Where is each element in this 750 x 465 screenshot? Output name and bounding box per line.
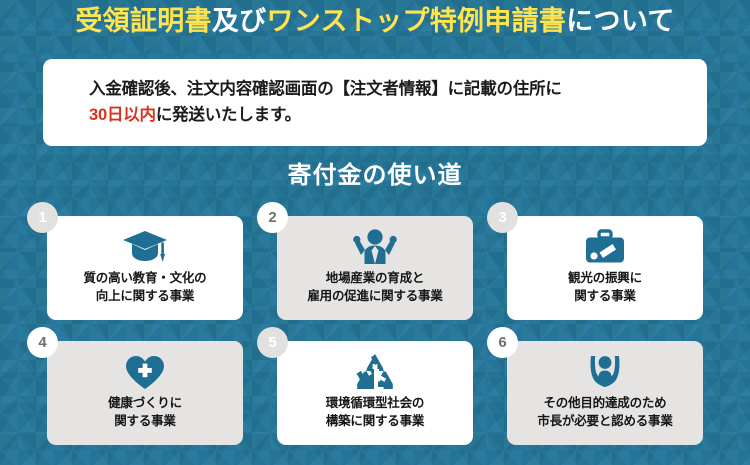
- person-in-hands-icon: [585, 352, 625, 392]
- section-heading-donation-usage: 寄付金の使い道: [0, 164, 750, 188]
- donation-usage-card-grid: 1 質の高い教育・文化の 向上に関する事業 2: [47, 216, 703, 445]
- usage-card-2-line-1: 地場産業の育成と: [307, 270, 442, 288]
- usage-card-5-number-badge: 5: [257, 327, 288, 358]
- usage-card-2-number-badge: 2: [257, 202, 288, 233]
- usage-card-6-number-badge: 6: [487, 327, 518, 358]
- usage-card-6-line-1: その他目的達成のため: [537, 395, 672, 413]
- usage-card-2-line-2: 雇用の促進に関する事業: [307, 288, 442, 306]
- usage-card-1-label: 質の高い教育・文化の 向上に関する事業: [83, 270, 206, 306]
- notice-line-2: 30日以内に発送いたします。: [89, 103, 707, 129]
- usage-card-4-line-1: 健康づくりに: [108, 395, 182, 413]
- infographic-canvas: 受領証明書及びワンストップ特例申請書について 入金確認後、注文内容確認画面の【注…: [0, 0, 750, 465]
- usage-card-2-label: 地場産業の育成と 雇用の促進に関する事業: [307, 270, 442, 306]
- shipping-notice-box: 入金確認後、注文内容確認画面の【注文者情報】に記載の住所に 30日以内に発送いた…: [43, 59, 707, 146]
- usage-card-6-line-2: 市長が必要と認める事業: [537, 413, 672, 431]
- usage-card-6-label: その他目的達成のため 市長が必要と認める事業: [537, 395, 672, 431]
- recycle-icon: [355, 352, 395, 392]
- usage-card-3-label: 観光の振興に 関する事業: [568, 270, 642, 306]
- suitcase-icon: [583, 227, 627, 267]
- usage-card-1-number-badge: 1: [27, 202, 58, 233]
- usage-card-4-number-badge: 4: [27, 327, 58, 358]
- notice-highlight-30-days: 30日以内: [89, 106, 156, 124]
- usage-card-1: 1 質の高い教育・文化の 向上に関する事業: [47, 216, 243, 320]
- usage-card-1-line-2: 向上に関する事業: [83, 288, 206, 306]
- usage-card-6: 6 その他目的達成のため 市長が必要と認める事業: [507, 341, 703, 445]
- usage-card-2: 2 地場産業の育成と 雇用の促進に関する事業: [277, 216, 473, 320]
- usage-card-3-line-1: 観光の振興に: [568, 270, 642, 288]
- usage-card-5-line-2: 構築に関する事業: [326, 413, 424, 431]
- notice-line-2-rest: に発送いたします。: [156, 106, 301, 124]
- notice-line-1: 入金確認後、注文内容確認画面の【注文者情報】に記載の住所に: [89, 77, 707, 103]
- page-title-segment-3: ワンストップ特例申請書: [266, 6, 566, 36]
- usage-card-5-line-1: 環境循環型社会の: [326, 395, 424, 413]
- heart-plus-icon: [124, 352, 166, 392]
- page-title-segment-1: 受領証明書: [75, 6, 212, 36]
- page-title: 受領証明書及びワンストップ特例申請書について: [0, 8, 750, 35]
- graduation-cap-icon: [122, 227, 168, 267]
- cheering-worker-icon: [353, 227, 397, 267]
- usage-card-3: 3 観光の振興に 関する事業: [507, 216, 703, 320]
- usage-card-1-line-1: 質の高い教育・文化の: [83, 270, 206, 288]
- usage-card-4: 4 健康づくりに 関する事業: [47, 341, 243, 445]
- usage-card-5: 5: [277, 341, 473, 445]
- page-title-segment-2: 及び: [212, 6, 267, 36]
- page-title-segment-4: について: [566, 6, 674, 36]
- usage-card-4-line-2: 関する事業: [108, 413, 182, 431]
- usage-card-3-line-2: 関する事業: [568, 288, 642, 306]
- usage-card-5-label: 環境循環型社会の 構築に関する事業: [326, 395, 424, 431]
- usage-card-4-label: 健康づくりに 関する事業: [108, 395, 182, 431]
- usage-card-3-number-badge: 3: [487, 202, 518, 233]
